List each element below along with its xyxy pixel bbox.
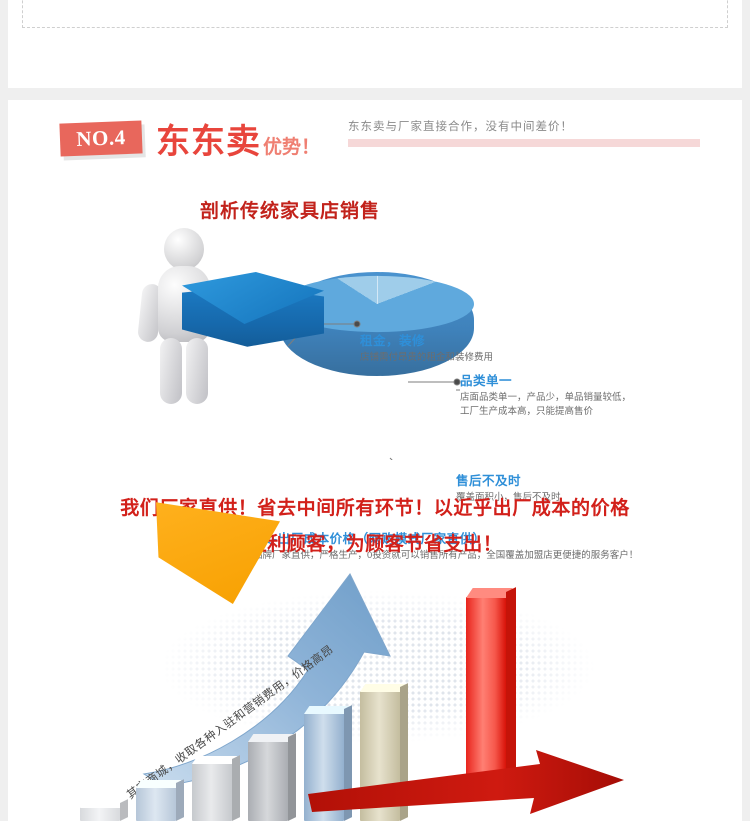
callout-category: 品类单一 店面品类单一，产品少，单品销量较低， 工厂生产成本高，只能提高售价 xyxy=(460,370,631,419)
section-subtitle-block: 东东卖与厂家直接合作，没有中间差价！ xyxy=(348,118,708,147)
partner-logo-row: ifree 发睿 ♠ AILIGONG —爱丽宫— xyxy=(23,0,729,3)
bar-chart-stage: 其它商城，收取各种入驻和营销费用，价格高昂 xyxy=(8,550,742,821)
pie-chart-stage: 租金，装修 店铺需付昂贵的租金和装修费用 品类单一 店面品类单一，产品少，单品销… xyxy=(8,220,742,460)
bar-item-4 xyxy=(248,741,288,821)
pie-chart-title: 剖析传统家具店销售 xyxy=(200,196,380,223)
advantage-section-panel: NO.4 东东卖 优势！ 东东卖与厂家直接合作，没有中间差价！ 剖析传统家具店销… xyxy=(8,100,742,821)
callout-category-desc: 店面品类单一，产品少，单品销量较低， 工厂生产成本高，只能提高售价 xyxy=(460,391,631,419)
brand-title: 东东卖 优势！ xyxy=(156,114,320,163)
slogan-line-1: 我们厂家直供！省去中间所有环节！以近乎出厂成本的价格 xyxy=(8,493,742,520)
bar-item-3 xyxy=(192,763,232,821)
callout-rent-title: 租金，装修 xyxy=(360,330,493,349)
section-number-badge: NO.4 xyxy=(59,120,142,156)
callout-service-title: 售后不及时 xyxy=(456,470,561,489)
subtitle-underline xyxy=(348,139,700,147)
callout-rent-desc: 店铺需付昂贵的租金和装修费用 xyxy=(360,351,493,365)
callout-category-title: 品类单一 xyxy=(460,370,631,389)
section-number-label: NO.4 xyxy=(76,125,126,152)
brand-suffix: 优势！ xyxy=(263,132,320,159)
bar-item-2 xyxy=(136,787,176,821)
red-base-arrow-icon xyxy=(308,750,638,820)
slogan-block: 我们厂家直供！省去中间所有环节！以近乎出厂成本的价格 让利顾客，为顾客节省支出！ xyxy=(8,493,742,556)
section-subtitle: 东东卖与厂家直接合作，没有中间差价！ xyxy=(348,118,708,134)
section-header: NO.4 东东卖 优势！ 东东卖与厂家直接合作，没有中间差价！ xyxy=(60,114,710,166)
bar-item-1 xyxy=(80,807,120,821)
partner-logo-frame: ifree 发睿 ♠ AILIGONG —爱丽宫— xyxy=(22,0,728,28)
brand-name: 东东卖 xyxy=(156,114,261,163)
callout-rent: 租金，装修 店铺需付昂贵的租金和装修费用 xyxy=(360,330,493,365)
promo-page: ifree 发睿 ♠ AILIGONG —爱丽宫— xyxy=(0,0,750,821)
partner-logo-panel: ifree 发睿 ♠ AILIGONG —爱丽宫— xyxy=(8,0,742,88)
